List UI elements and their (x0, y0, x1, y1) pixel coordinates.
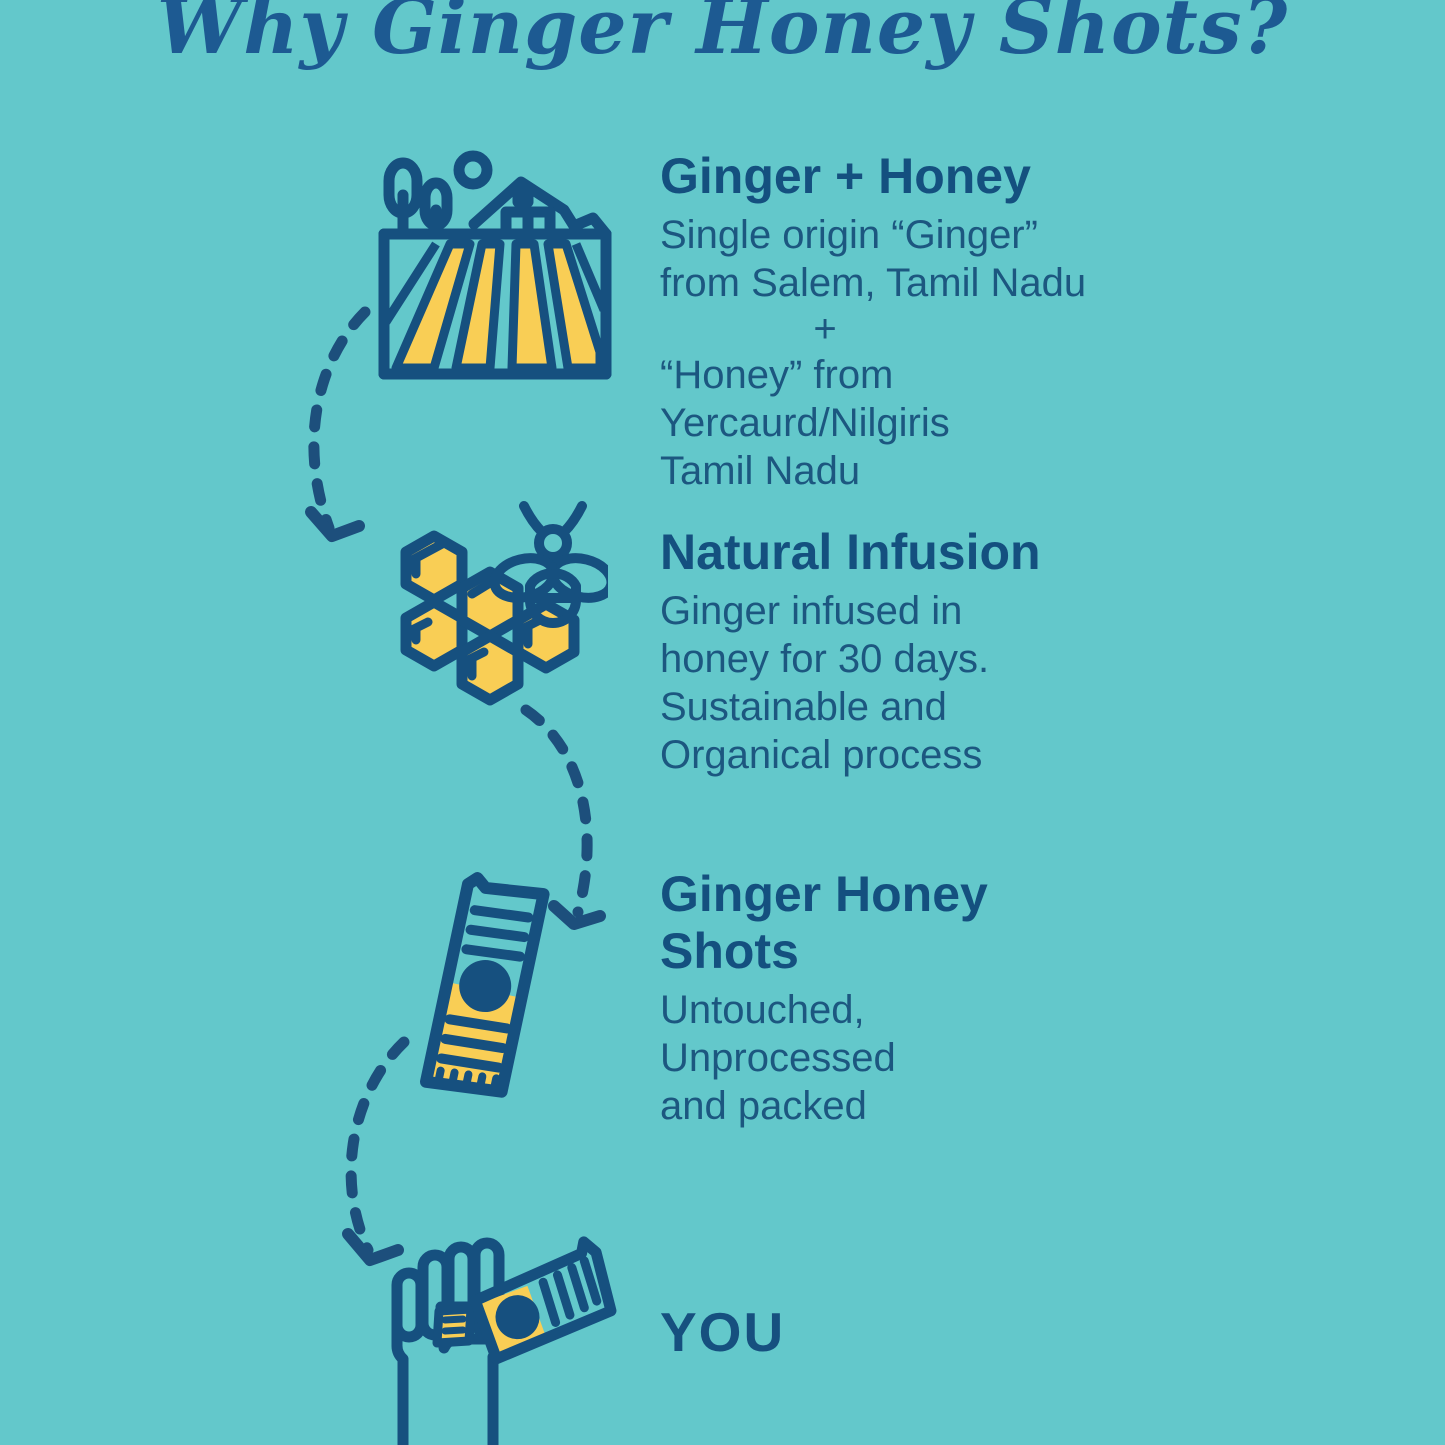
step-heading-ginger-honey: Ginger + Honey (660, 148, 1160, 205)
step-body-ginger-origin: Single origin “Ginger” from Salem, Tamil… (660, 211, 1160, 307)
step-body-natural-infusion: Ginger infused in honey for 30 days. Sus… (660, 587, 1130, 779)
step-heading-ginger-honey-shots: Ginger Honey Shots (660, 866, 1090, 980)
step-heading-you: YOU (660, 1300, 785, 1364)
page-title: Why Ginger Honey Shots? (0, 0, 1445, 71)
step-ginger-honey: Ginger + Honey Single origin “Ginger” fr… (660, 148, 1160, 495)
step-heading-natural-infusion: Natural Infusion (660, 524, 1130, 581)
step-body-ginger-honey-shots: Untouched, Unprocessed and packed (660, 986, 1090, 1130)
infographic-canvas: Why Ginger Honey Shots? (0, 0, 1445, 1445)
step-ginger-honey-shots: Ginger Honey Shots Untouched, Unprocesse… (660, 866, 1090, 1130)
step-body-plus-sign: + (660, 307, 990, 351)
step-body-honey-origin: “Honey” from Yercaurd/Nilgiris Tamil Nad… (660, 351, 1160, 495)
hand-holding-sachet-icon (385, 1225, 625, 1445)
step-natural-infusion: Natural Infusion Ginger infused in honey… (660, 524, 1130, 779)
